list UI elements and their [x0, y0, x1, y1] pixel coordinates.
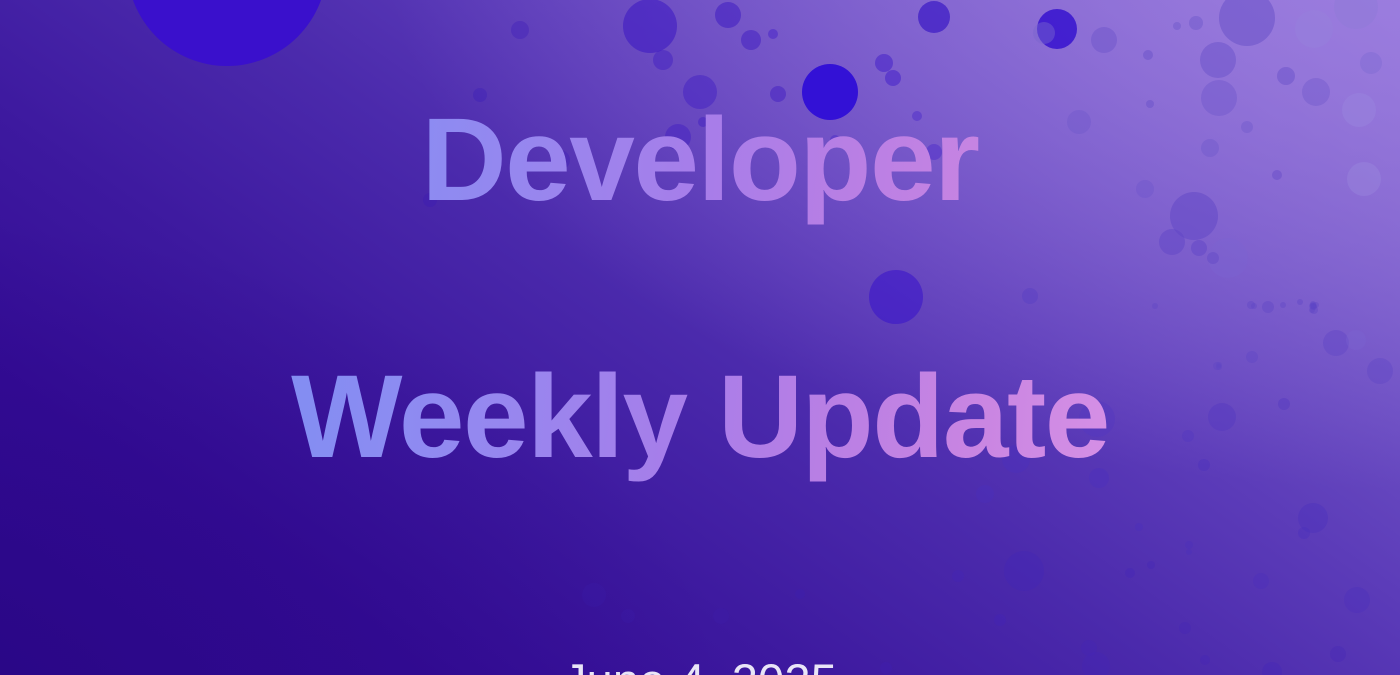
developer-weekly-update-banner: Developer Weekly Update June 4, 2025 [0, 0, 1400, 675]
title-line-1: Developer [291, 96, 1109, 225]
issue-date: June 4, 2025 [563, 653, 837, 675]
banner-content: Developer Weekly Update June 4, 2025 [0, 0, 1400, 675]
page-title: Developer Weekly Update [281, 0, 1119, 617]
title-line-2: Weekly Update [291, 353, 1109, 482]
